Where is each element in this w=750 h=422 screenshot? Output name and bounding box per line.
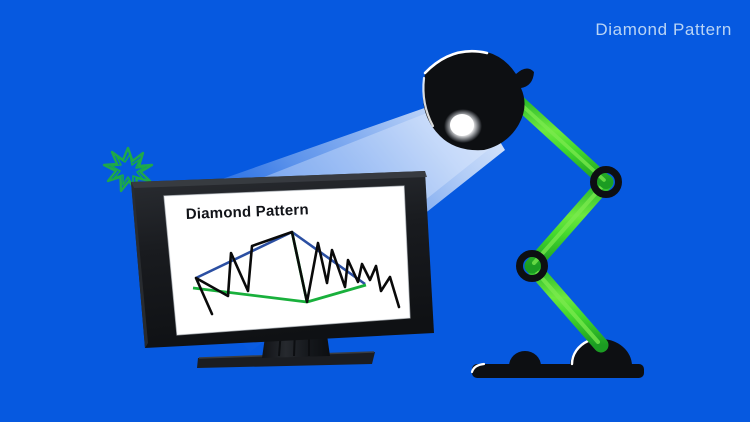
page-title: Diamond Pattern <box>595 20 732 40</box>
illustration-canvas: Diamond Pattern Diamond <box>0 0 750 422</box>
scene-svg: Diamond Pattern <box>0 0 750 422</box>
